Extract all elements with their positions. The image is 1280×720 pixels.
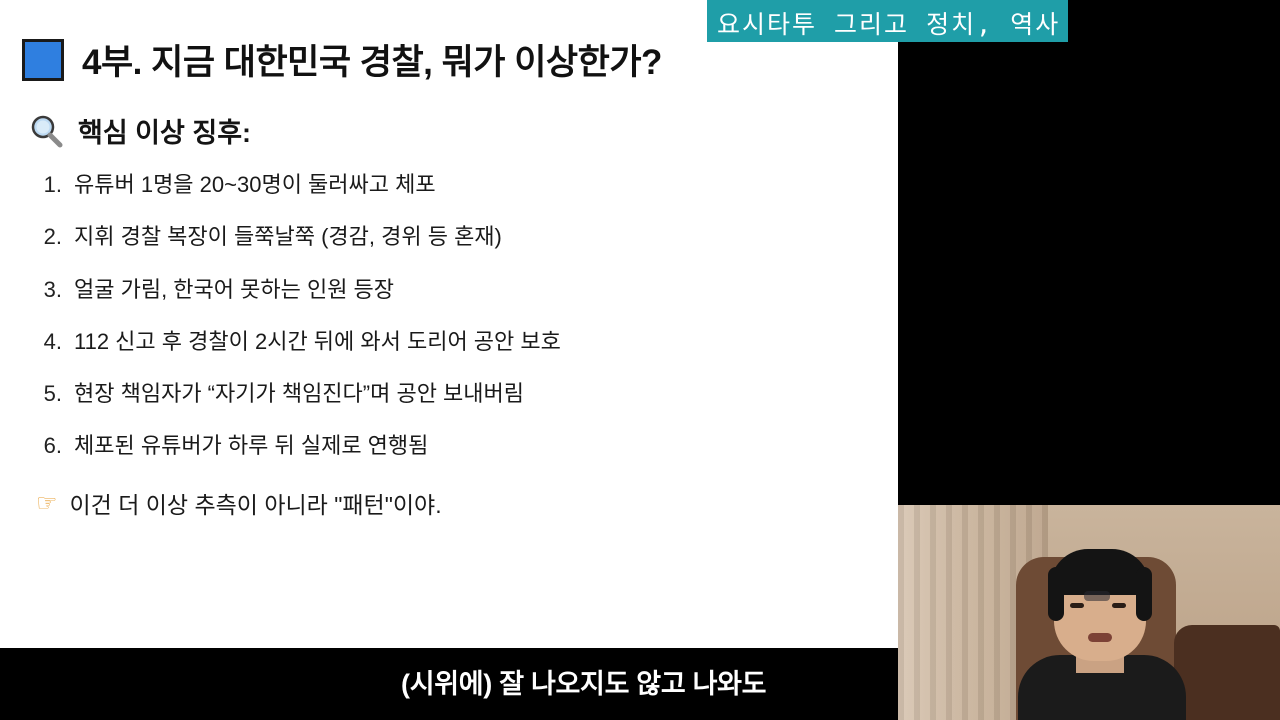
slide-panel: 4부. 지금 대한민국 경찰, 뭐가 이상한가? 핵심 이상 징후: 1. 유튜… [0, 0, 898, 648]
list-item-text: 현장 책임자가 “자기가 책임진다”며 공안 보내버림 [74, 381, 868, 406]
blue-square-icon [22, 39, 64, 81]
webcam-person-hair [1050, 549, 1150, 595]
subtitle-caption: (시위에) 잘 나오지도 않고 나와도 [387, 656, 780, 709]
list-item: 2. 지휘 경찰 복장이 들쭉날쭉 (경감, 경위 등 혼재) [40, 224, 868, 249]
list-item-text: 얼굴 가림, 한국어 못하는 인원 등장 [74, 277, 868, 302]
list-item-number: 2. [40, 224, 74, 249]
slide-subtitle: 핵심 이상 징후: [78, 111, 251, 150]
list-item-number: 6. [40, 433, 74, 458]
slide-closing-row: ☞ 이건 더 이상 추측이 아니라 "패턴"이야. [36, 486, 868, 520]
list-item-number: 3. [40, 277, 74, 302]
list-item-text: 체포된 유튜버가 하루 뒤 실제로 연행됨 [74, 433, 868, 458]
list-item-number: 5. [40, 381, 74, 406]
list-item-text: 유튜버 1명을 20~30명이 둘러싸고 체포 [74, 172, 868, 197]
magnifier-icon [28, 113, 64, 149]
list-item: 1. 유튜버 1명을 20~30명이 둘러싸고 체포 [40, 172, 868, 197]
webcam-person-mouth [1088, 633, 1112, 642]
list-item-number: 4. [40, 329, 74, 354]
webcam-person-hair-left [1048, 567, 1064, 621]
list-item-text: 112 신고 후 경찰이 2시간 뒤에 와서 도리어 공안 보호 [74, 329, 868, 354]
slide-subtitle-row: 핵심 이상 징후: [28, 111, 868, 150]
webcam-person-eye-left [1070, 603, 1084, 608]
list-item: 3. 얼굴 가림, 한국어 못하는 인원 등장 [40, 277, 868, 302]
list-item: 5. 현장 책임자가 “자기가 책임진다”며 공안 보내버림 [40, 381, 868, 406]
channel-banner: 요시타투 그리고 정치, 역사 [707, 0, 1068, 42]
list-item-number: 1. [40, 172, 74, 197]
slide-closing-text: 이건 더 이상 추측이 아니라 "패턴"이야. [70, 486, 442, 520]
webcam-person-hair-right [1136, 567, 1152, 621]
pointing-hand-icon: ☞ [36, 489, 58, 518]
video-black-region [898, 0, 1280, 505]
webcam-feed [898, 505, 1280, 720]
page-title: 4부. 지금 대한민국 경찰, 뭐가 이상한가? [82, 34, 662, 85]
webcam-person-tattoo [1084, 591, 1110, 601]
list-item: 4. 112 신고 후 경찰이 2시간 뒤에 와서 도리어 공안 보호 [40, 329, 868, 354]
symptom-list: 1. 유튜버 1명을 20~30명이 둘러싸고 체포 2. 지휘 경찰 복장이 … [40, 172, 868, 459]
webcam-person-eye-right [1112, 603, 1126, 608]
webcam-chair-right [1174, 625, 1280, 720]
list-item-text: 지휘 경찰 복장이 들쭉날쭉 (경감, 경위 등 혼재) [74, 224, 868, 249]
list-item: 6. 체포된 유튜버가 하루 뒤 실제로 연행됨 [40, 433, 868, 458]
screen-root: 4부. 지금 대한민국 경찰, 뭐가 이상한가? 핵심 이상 징후: 1. 유튜… [0, 0, 1280, 720]
